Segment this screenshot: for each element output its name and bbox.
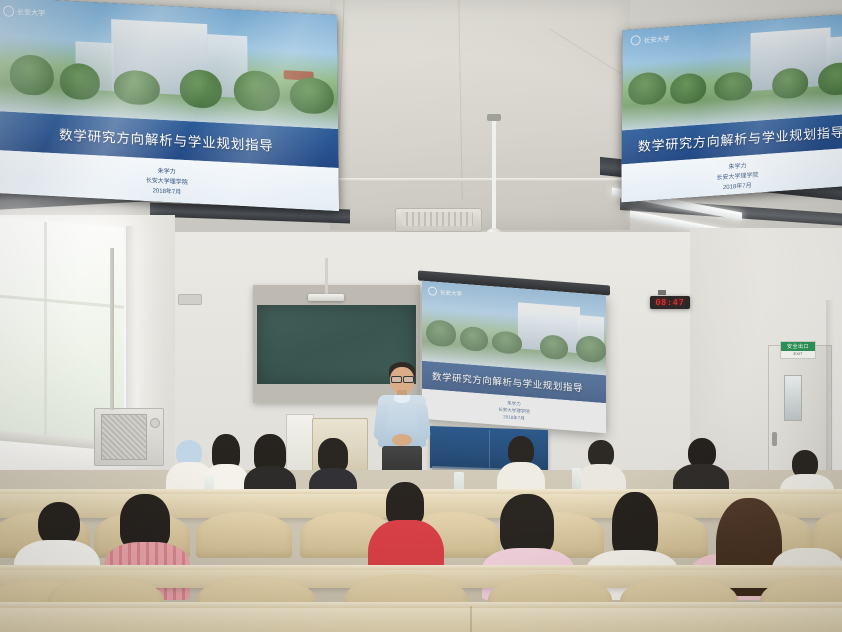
logo-ring-icon	[631, 35, 641, 46]
slide-photo: 长安大学	[622, 14, 842, 130]
slide-date: 2018年7月	[153, 185, 182, 196]
right-wall-monitor[interactable]: 长安大学 数学研究方向解析与学业规划指导 朱学力 长安大学理学院 2018年7月	[621, 14, 842, 203]
logo-text: 长安大学	[440, 288, 462, 298]
front-projection-screen[interactable]: 长安大学 数学研究方向解析与学业规划指导 朱学力 长安大学理学院 2018年7月	[422, 281, 606, 433]
logo-text: 长安大学	[644, 33, 670, 45]
left-monitor-slide: 长安大学 数学研究方向解析与学业规划指导 朱学力 长安大学理学院 2018年7月	[0, 0, 339, 211]
slide-presenter-name: 朱学力	[728, 160, 746, 170]
university-logo: 长安大学	[3, 5, 45, 18]
blackboard-light-rod	[325, 258, 328, 296]
desk-row-front	[0, 606, 842, 632]
desk-seam	[470, 606, 472, 632]
door-window	[784, 375, 802, 421]
desk-edge-front	[0, 602, 842, 608]
exit-sign-sublabel: EXIT	[781, 351, 815, 356]
right-monitor-slide: 长安大学 数学研究方向解析与学业规划指导 朱学力 长安大学理学院 2018年7月	[621, 14, 842, 203]
left-wall-monitor[interactable]: 长安大学 数学研究方向解析与学业规划指导 朱学力 长安大学理学院 2018年7月	[0, 0, 339, 211]
university-logo: 长安大学	[631, 33, 670, 46]
ceiling-camera-pole	[492, 118, 496, 236]
slide-presenter-name: 朱学力	[507, 400, 521, 407]
blackboard-light	[308, 294, 344, 301]
person-ponytail-hair	[318, 438, 348, 472]
person-pink-hair	[500, 494, 554, 556]
slide-photo: 长安大学	[0, 0, 338, 129]
window-mullion	[44, 222, 47, 440]
ceiling-camera-mount	[487, 114, 501, 121]
logo-ring-icon	[428, 286, 437, 296]
classroom-photo: 长安大学 数学研究方向解析与学业规划指导 朱学力 长安大学理学院 2018年7月	[0, 0, 842, 632]
ceiling-vent-slats	[402, 212, 473, 226]
desk-edge	[0, 565, 842, 570]
exit-sign-bar: 安全出口	[781, 342, 815, 351]
led-clock: 08:47	[650, 296, 690, 309]
wall-pipe	[110, 248, 114, 410]
slide-photo: 长安大学	[422, 281, 606, 376]
ceiling-panel	[330, 0, 630, 230]
exit-sign-label: 安全出口	[787, 343, 809, 350]
slide-date: 2018年7月	[723, 180, 752, 191]
presenter-glasses	[403, 376, 414, 383]
projected-slide: 长安大学 数学研究方向解析与学业规划指导 朱学力 长安大学理学院 2018年7月	[422, 281, 606, 433]
slide-presenter-name: 朱学力	[158, 165, 176, 175]
led-clock-mount	[658, 290, 666, 295]
led-clock-time: 08:47	[655, 298, 684, 307]
university-logo: 长安大学	[428, 286, 462, 298]
presenter-glasses	[391, 376, 402, 383]
wall-speaker	[178, 294, 202, 305]
ceiling-panel-edge	[330, 178, 630, 182]
slide-affiliation: 长安大学理学院	[716, 169, 758, 181]
logo-ring-icon	[3, 5, 14, 17]
presenter-collar	[394, 395, 410, 403]
exit-sign: 安全出口 EXIT	[780, 341, 816, 359]
logo-text: 长安大学	[17, 7, 45, 18]
